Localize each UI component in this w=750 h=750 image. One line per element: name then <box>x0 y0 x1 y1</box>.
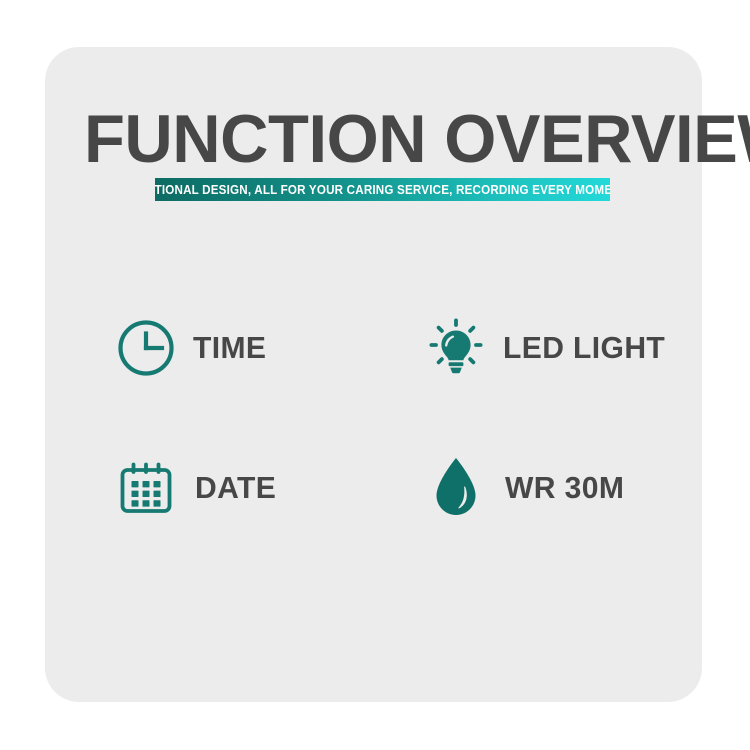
page-title: FUNCTION OVERVIEW <box>84 106 675 172</box>
feature-item-time: TIME <box>115 305 269 391</box>
feature-label-time: TIME <box>193 330 266 366</box>
calendar-icon <box>115 457 177 519</box>
feature-list: TIME <box>45 290 702 570</box>
water-drop-icon <box>425 457 487 519</box>
lightbulb-icon <box>425 317 487 379</box>
feature-item-water-resistance: WR 30M <box>425 445 628 531</box>
subtitle-banner: EACH FUNCTIONAL DESIGN, ALL FOR YOUR CAR… <box>155 178 610 201</box>
feature-label-date: DATE <box>195 470 276 506</box>
feature-label-led-light: LED LIGHT <box>503 330 665 366</box>
feature-item-led-light: LED LIGHT <box>425 305 670 391</box>
clock-icon <box>115 317 177 379</box>
feature-label-water-resistance: WR 30M <box>505 470 624 506</box>
product-feature-slide: FUNCTION OVERVIEW EACH FUNCTIONAL DESIGN… <box>0 0 750 750</box>
subtitle-text: EACH FUNCTIONAL DESIGN, ALL FOR YOUR CAR… <box>155 183 610 197</box>
feature-item-date: DATE <box>115 445 279 531</box>
